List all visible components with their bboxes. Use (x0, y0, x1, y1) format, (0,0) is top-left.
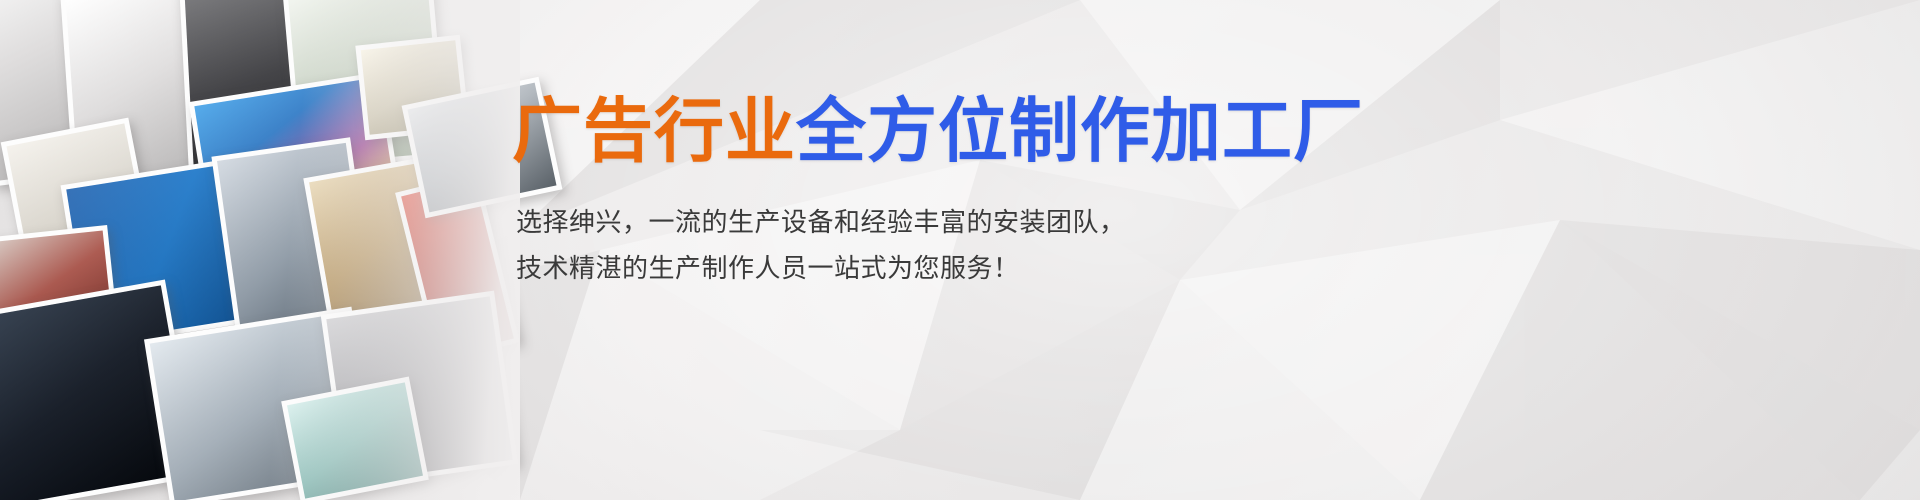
banner-subtitle: 选择绅兴，一流的生产设备和经验丰富的安装团队， 技术精湛的生产制作人员一站式为您… (516, 200, 1126, 292)
banner-text-content: 广告行业全方位制作加工厂 选择绅兴，一流的生产设备和经验丰富的安装团队， 技术精… (512, 0, 1812, 500)
headline-rest: 全方位制作加工厂 (796, 90, 1364, 172)
subtitle-line-2: 技术精湛的生产制作人员一站式为您服务！ (516, 246, 1126, 292)
photo-image (287, 382, 423, 498)
advertising-banner: 广告行业全方位制作加工厂 选择绅兴，一流的生产设备和经验丰富的安装团队， 技术精… (0, 0, 1920, 500)
banner-headline: 广告行业全方位制作加工厂 (512, 96, 1364, 166)
subtitle-line-1: 选择绅兴，一流的生产设备和经验丰富的安装团队， (516, 200, 1126, 246)
photo-collage (0, 0, 520, 500)
headline-highlight: 广告行业 (512, 90, 796, 172)
